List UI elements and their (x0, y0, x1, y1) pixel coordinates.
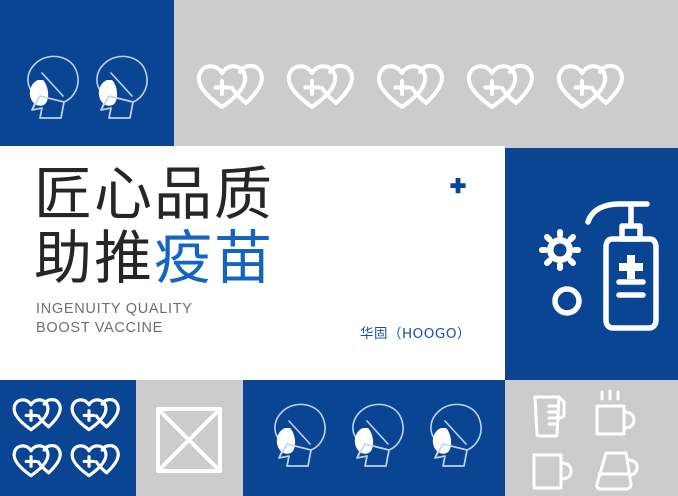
top-right-gray-block (174, 0, 678, 148)
steaming-mug-icon (593, 390, 637, 438)
masked-head-icon (18, 52, 84, 130)
mug-icon (531, 452, 575, 492)
headline-line-2: 助推疫苗 (34, 226, 474, 290)
bottom-masked-heads-block (243, 380, 505, 496)
headline-line-2-dark: 助推 (34, 224, 154, 292)
double-heart-plus-icon (12, 396, 72, 440)
brand-name: 华固（HOOGO） (360, 322, 471, 342)
double-heart-plus-icon (70, 442, 130, 486)
double-heart-plus-icon (286, 62, 368, 120)
sanitizer-panel (505, 148, 678, 380)
subtitle-group: INGENUITY QUALITY BOOST VACCINE (36, 300, 193, 338)
poster-canvas: 匠心品质 助推疫苗 INGENUITY QUALITY BOOST VACCIN… (0, 0, 678, 496)
circle-icon (552, 286, 582, 316)
subtitle-line-1: INGENUITY QUALITY (36, 300, 193, 319)
double-heart-plus-icon (466, 62, 548, 120)
double-heart-plus-icon (12, 442, 72, 486)
bottom-crossed-box-block (136, 380, 243, 496)
masked-head-icon (421, 400, 487, 478)
bottom-containers-block (505, 380, 678, 496)
masked-head-icon (343, 400, 409, 478)
masked-head-icon (265, 400, 331, 478)
double-heart-plus-icon (556, 62, 638, 120)
headline-line-1: 匠心品质 (34, 162, 474, 226)
top-left-blue-block (0, 0, 174, 146)
bottom-hearts-block (0, 380, 136, 496)
crossed-box-icon (155, 406, 223, 474)
carafe-icon (593, 450, 641, 492)
headline-group: 匠心品质 助推疫苗 (34, 162, 474, 290)
plus-icon (448, 176, 468, 196)
subtitle-line-2: BOOST VACCINE (36, 319, 193, 338)
double-heart-plus-icon (376, 62, 458, 120)
sanitizer-bottle-icon (583, 200, 657, 332)
double-heart-plus-icon (196, 62, 278, 120)
beaker-icon (531, 394, 567, 438)
headline-line-2-blue: 疫苗 (154, 224, 274, 292)
masked-head-icon (87, 52, 153, 130)
virus-icon (536, 226, 584, 274)
double-heart-plus-icon (70, 396, 130, 440)
